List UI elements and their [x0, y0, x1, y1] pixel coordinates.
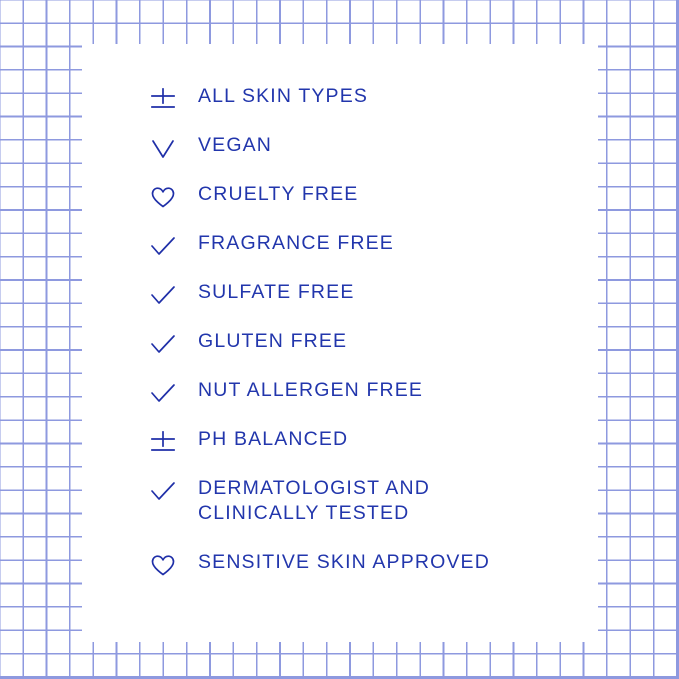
- claim-label: CRUELTY FREE: [198, 182, 358, 207]
- claims-card: ALL SKIN TYPESVEGANCRUELTY FREEFRAGRANCE…: [82, 44, 598, 642]
- claim-label: NUT ALLERGEN FREE: [198, 378, 423, 403]
- claim-row: GLUTEN FREE: [82, 329, 598, 378]
- claim-row: DERMATOLOGIST AND CLINICALLY TESTED: [82, 476, 598, 550]
- heart-outline-icon: [150, 553, 180, 579]
- claim-label: SULFATE FREE: [198, 280, 354, 305]
- claim-label: GLUTEN FREE: [198, 329, 347, 354]
- claim-row: SULFATE FREE: [82, 280, 598, 329]
- claim-row: FRAGRANCE FREE: [82, 231, 598, 280]
- claim-row: VEGAN: [82, 133, 598, 182]
- heart-outline-icon: [150, 185, 180, 211]
- claim-label: ALL SKIN TYPES: [198, 84, 368, 109]
- claim-row: PH BALANCED: [82, 427, 598, 476]
- claim-label: SENSITIVE SKIN APPROVED: [198, 550, 490, 575]
- check-icon: [150, 381, 180, 407]
- vegan-leaf-v-icon: [150, 136, 180, 162]
- plus-minus-icon: [150, 430, 180, 456]
- claim-label: FRAGRANCE FREE: [198, 231, 394, 256]
- check-icon: [150, 479, 180, 505]
- claim-row: CRUELTY FREE: [82, 182, 598, 231]
- claim-label: DERMATOLOGIST AND CLINICALLY TESTED: [198, 476, 430, 526]
- claim-row: ALL SKIN TYPES: [82, 84, 598, 133]
- check-icon: [150, 283, 180, 309]
- check-icon: [150, 234, 180, 260]
- claim-label: PH BALANCED: [198, 427, 348, 452]
- claim-row: SENSITIVE SKIN APPROVED: [82, 550, 598, 599]
- page-canvas: ALL SKIN TYPESVEGANCRUELTY FREEFRAGRANCE…: [0, 0, 679, 679]
- check-icon: [150, 332, 180, 358]
- claims-list: ALL SKIN TYPESVEGANCRUELTY FREEFRAGRANCE…: [82, 44, 598, 599]
- plus-minus-icon: [150, 87, 180, 113]
- claim-label: VEGAN: [198, 133, 272, 158]
- claim-row: NUT ALLERGEN FREE: [82, 378, 598, 427]
